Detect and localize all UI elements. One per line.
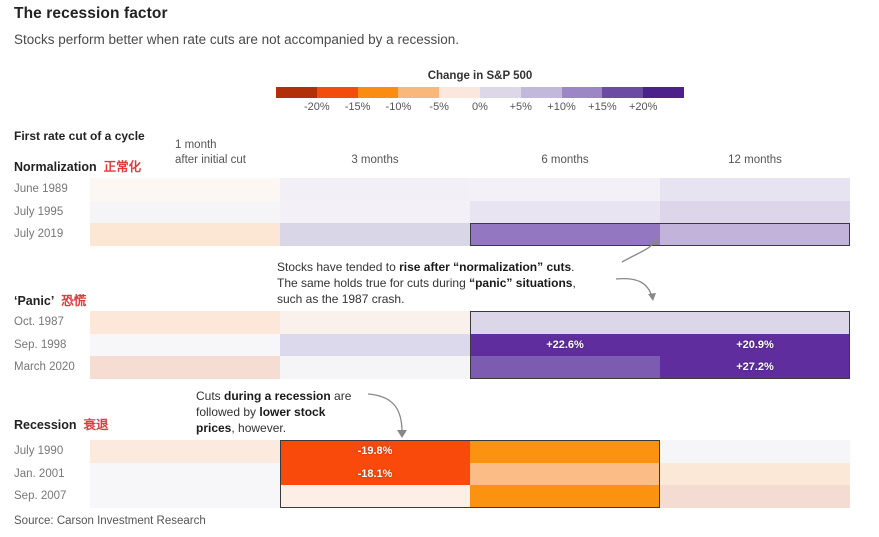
heatmap-cell[interactable] <box>470 440 660 463</box>
annotation-line: The same holds true for cuts during “pan… <box>277 275 607 291</box>
section-label-cn-1: 恐慌 <box>61 294 86 308</box>
heatmap-cell[interactable] <box>660 201 850 224</box>
section-label-en-0: Normalization <box>14 160 97 174</box>
section-label-en-1: ‘Panic’ <box>14 294 54 308</box>
heatmap-cell[interactable] <box>90 178 280 201</box>
heatmap-cell[interactable] <box>470 356 660 379</box>
column-header-line2-2: 6 months <box>475 153 655 168</box>
section-label-0: Normalization正常化 <box>14 156 141 175</box>
heatmap-cell[interactable] <box>90 485 280 508</box>
annotation-text: followed by <box>196 405 259 419</box>
annotation-text: , <box>572 276 575 290</box>
row-label-2-2: Sep. 2007 <box>14 490 66 502</box>
annotation-text: Stocks have tended to <box>277 260 399 274</box>
cell-value-label: +20.9% <box>736 339 774 351</box>
annotation-line: Stocks have tended to rise after “normal… <box>277 259 607 275</box>
cell-value-label: +27.2% <box>736 361 774 373</box>
annotation-line: such as the 1987 crash. <box>277 291 607 307</box>
annotation-emphasis: prices <box>196 421 231 435</box>
heatmap-cell[interactable] <box>280 223 470 246</box>
section-label-cn-0: 正常化 <box>104 160 142 174</box>
heatmap-cell[interactable] <box>470 485 660 508</box>
annotation-text: Cuts <box>196 389 224 403</box>
heatmap-cell[interactable] <box>280 485 470 508</box>
annotation-text: , however. <box>231 421 286 435</box>
column-header-2: 6 months <box>475 153 655 168</box>
section-label-cn-2: 衰退 <box>84 418 109 432</box>
column-header-line2-3: 12 months <box>665 153 845 168</box>
annotation-text: . <box>571 260 574 274</box>
heatmap-cell[interactable] <box>660 485 850 508</box>
section-label-en-2: Recession <box>14 418 77 432</box>
source-note: Source: Carson Investment Research <box>14 515 206 527</box>
annotation-line: Cuts during a recession are <box>196 388 376 404</box>
heatmap-cell[interactable] <box>90 334 280 357</box>
heatmap-cell[interactable] <box>660 311 850 334</box>
heatmap-cell[interactable] <box>280 356 470 379</box>
annotation-emphasis: lower stock <box>259 405 325 419</box>
annotation-recession: Cuts during a recession arefollowed by l… <box>196 388 376 436</box>
column-group-heading: First rate cut of a cycle <box>14 129 145 143</box>
annotation-arrow-recession <box>364 390 444 446</box>
annotation-text: The same holds true for cuts during <box>277 276 469 290</box>
heatmap-cell[interactable] <box>280 334 470 357</box>
row-label-2-1: Jan. 2001 <box>14 468 65 480</box>
section-label-1: ‘Panic’恐慌 <box>14 290 86 309</box>
annotation-text: are <box>331 389 352 403</box>
heatmap-cell[interactable] <box>90 440 280 463</box>
heatmap-cell[interactable] <box>90 356 280 379</box>
row-label-2-0: July 1990 <box>14 445 63 457</box>
row-label-0-1: July 1995 <box>14 206 63 218</box>
heatmap-cell[interactable] <box>280 178 470 201</box>
heatmap-cell[interactable] <box>90 311 280 334</box>
column-header-line1-0: 1 month <box>175 138 325 153</box>
row-label-0-0: June 1989 <box>14 183 68 195</box>
cell-value-label: -18.1% <box>358 468 393 480</box>
heatmap-cell[interactable] <box>280 201 470 224</box>
heatmap-cell[interactable] <box>470 311 660 334</box>
row-label-1-2: March 2020 <box>14 361 75 373</box>
annotation-normalization: Stocks have tended to rise after “normal… <box>277 259 607 307</box>
heatmap-cell[interactable] <box>660 178 850 201</box>
annotation-emphasis: “panic” situations <box>469 276 572 290</box>
heatmap-cell[interactable] <box>660 440 850 463</box>
row-label-0-2: July 2019 <box>14 228 63 240</box>
annotation-emphasis: during a recession <box>224 389 331 403</box>
row-label-1-1: Sep. 1998 <box>14 339 66 351</box>
cell-value-label: +22.6% <box>546 339 584 351</box>
heatmap-cell[interactable] <box>470 463 660 486</box>
heatmap-cell[interactable] <box>660 463 850 486</box>
column-header-line2-1: 3 months <box>285 153 465 168</box>
annotation-emphasis: rise after “normalization” cuts <box>399 260 571 274</box>
column-header-1: 3 months <box>285 153 465 168</box>
annotation-arrow-normalization <box>600 237 720 307</box>
heatmap-cell[interactable] <box>470 178 660 201</box>
annotation-line: followed by lower stock <box>196 404 376 420</box>
cell-value-label: -19.8% <box>358 445 393 457</box>
heatmap-cell[interactable] <box>90 223 280 246</box>
annotation-text: such as the 1987 crash. <box>277 292 404 306</box>
heatmap-cell[interactable] <box>280 311 470 334</box>
annotation-line: prices, however. <box>196 420 376 436</box>
heatmap-cell[interactable] <box>90 463 280 486</box>
heatmap-cell[interactable] <box>470 201 660 224</box>
heatmap-cell[interactable] <box>90 201 280 224</box>
column-header-3: 12 months <box>665 153 845 168</box>
section-label-2: Recession衰退 <box>14 414 109 433</box>
row-label-1-0: Oct. 1987 <box>14 316 64 328</box>
